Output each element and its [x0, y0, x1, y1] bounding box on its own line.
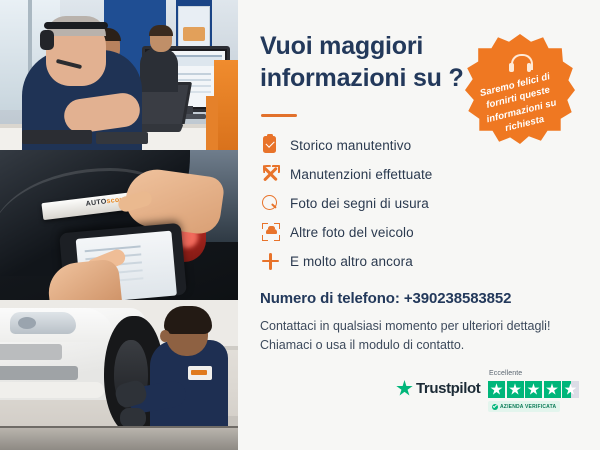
keyboard-shape-2 [96, 132, 148, 144]
agent-headset-cup-shape [40, 30, 54, 50]
uniform-badge-shape [188, 366, 212, 380]
agent-headset-band-shape [44, 22, 108, 29]
mechanic-glove-shape-2 [120, 408, 146, 428]
feature-label: Foto dei segni di usura [290, 196, 429, 211]
feature-item-manutenzioni-effettuate[interactable]: Manutenzioni effettuate [260, 160, 580, 189]
feature-label: Manutenzioni effettuate [290, 167, 432, 182]
car-grille-shape [0, 344, 62, 360]
mechanic-wheel-check-photo [0, 300, 238, 450]
verified-badge-text: AZIENDA VERIFICATA [500, 404, 556, 410]
contact-instructions: Contattaci in qualsiasi momento per ulte… [260, 317, 590, 356]
title-divider [261, 114, 297, 117]
rating-label: Eccellente [489, 370, 522, 377]
verified-check-icon [492, 404, 498, 410]
car-lower-grille-shape [0, 366, 78, 380]
feature-item-altre-foto-veicolo[interactable]: Altre foto del veicolo [260, 218, 580, 247]
phone-number-line[interactable]: Numero di telefono: +390238583852 [260, 290, 511, 307]
star-rating [488, 381, 579, 398]
headset-icon [509, 54, 531, 74]
photo-column: AUTOscout [0, 0, 238, 450]
feature-list: Storico manutentivo Manutenzioni effettu… [260, 131, 580, 276]
feature-item-storico-manutentivo[interactable]: Storico manutentivo [260, 131, 580, 160]
headlight-shape [10, 312, 76, 334]
feature-item-molto-altro[interactable]: E molto altro ancora [260, 247, 580, 276]
trustpilot-wordmark: Trustpilot [416, 380, 480, 397]
promo-banner: AUTOscout [0, 0, 600, 450]
star-1-icon [488, 381, 505, 398]
trustpilot-star-icon [396, 380, 413, 397]
contact-line-2: Chiamaci o usa il modulo di contatto. [260, 336, 590, 355]
crossed-tools-icon [260, 164, 286, 186]
call-center-agents-photo [0, 0, 238, 150]
magnifier-icon [260, 193, 286, 215]
verified-company-badge: AZIENDA VERIFICATA [488, 401, 560, 412]
star-3-icon [525, 381, 542, 398]
lift-platform-shape [0, 428, 238, 450]
third-agent-body-shape [140, 48, 178, 92]
mechanic-hair-shape [164, 306, 212, 334]
contact-line-1: Contattaci in qualsiasi momento per ulte… [260, 317, 590, 336]
mechanic-ear-shape [160, 330, 170, 342]
car-bumper-shape [0, 382, 104, 398]
feature-label: E molto altro ancora [290, 254, 413, 269]
orange-divider-shape-2 [206, 96, 218, 150]
feature-label: Storico manutentivo [290, 138, 411, 153]
star-2-icon [507, 381, 524, 398]
car-scan-icon [260, 222, 286, 244]
vehicle-inspection-tablet-photo: AUTOscout [0, 150, 238, 300]
third-agent-hair-shape [149, 25, 173, 36]
feature-label: Altre foto del veicolo [290, 225, 414, 240]
page-title: Vuoi maggiori informazioni su ? [260, 30, 480, 94]
trustpilot-rating-widget[interactable]: Trustpilot Eccellente AZIENDA VERIFICATA [396, 370, 592, 418]
star-5-icon [562, 381, 579, 398]
trustpilot-logo: Trustpilot [396, 380, 480, 397]
star-4-icon [544, 381, 561, 398]
request-info-badge: Saremo felici di fornirti queste informa… [465, 34, 575, 144]
clipboard-check-icon [260, 135, 286, 157]
content-panel: Vuoi maggiori informazioni su ? Saremo f… [238, 0, 600, 450]
keyboard-shape [22, 130, 92, 144]
feature-item-foto-segni-usura[interactable]: Foto dei segni di usura [260, 189, 580, 218]
wall-poster-shape [178, 6, 210, 50]
plus-icon [260, 251, 286, 273]
